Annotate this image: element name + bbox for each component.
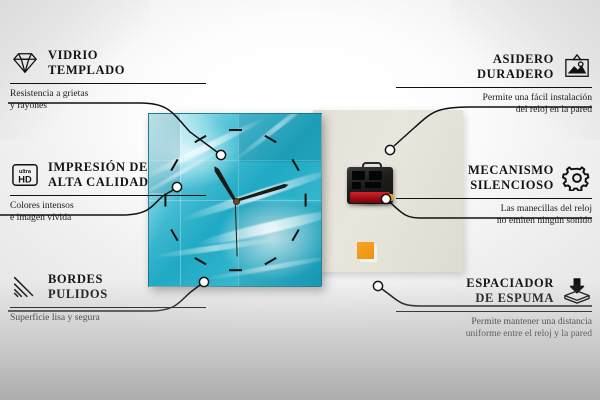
- diamond-icon: [10, 50, 40, 76]
- svg-text:HD: HD: [18, 175, 32, 185]
- feature-impresion-alta-calidad[interactable]: ultra HD IMPRESIÓN DE ALTA CALIDAD Color…: [10, 160, 206, 225]
- feature-header: MECANISMO SILENCIOSO: [396, 163, 592, 194]
- foam-spacer-icon: [562, 278, 592, 304]
- infographic-canvas: VIDRIO TEMPLADO Resistencia a grietas y …: [0, 0, 600, 400]
- feature-header: VIDRIO TEMPLADO: [10, 48, 206, 79]
- feature-espaciador-de-espuma[interactable]: ESPACIADOR DE ESPUMA Permite mantener un…: [396, 276, 592, 341]
- feature-bordes-pulidos[interactable]: BORDES PULIDOS Superficie lisa y segura: [10, 272, 206, 324]
- feature-divider: [10, 83, 206, 84]
- feature-title: BORDES PULIDOS: [48, 272, 108, 303]
- clock-tick: [194, 256, 206, 264]
- clock-center-hub: [233, 198, 240, 205]
- feature-description: Colores intensos e imagen vívida: [10, 200, 206, 225]
- clock-tick: [304, 193, 306, 206]
- clock-tick: [229, 129, 242, 131]
- mechanism-slot: [369, 171, 382, 180]
- polished-edges-icon: [10, 274, 40, 300]
- clock-tick: [194, 135, 206, 143]
- clock-tick: [170, 229, 178, 241]
- clock-tick: [229, 269, 242, 271]
- feature-title: VIDRIO TEMPLADO: [48, 48, 125, 79]
- feature-asidero-duradero[interactable]: ASIDERO DURADERO Permite una fácil insta…: [396, 52, 592, 117]
- feature-divider: [10, 195, 206, 196]
- feature-header: BORDES PULIDOS: [10, 272, 206, 303]
- feature-title: MECANISMO SILENCIOSO: [468, 163, 554, 194]
- feature-description: Permite una fácil instalación del reloj …: [396, 92, 592, 117]
- feature-header: ASIDERO DURADERO: [396, 52, 592, 83]
- feature-title: ESPACIADOR DE ESPUMA: [466, 276, 554, 307]
- mechanism-body: [347, 167, 393, 204]
- picture-frame-hanger-icon: [562, 54, 592, 80]
- mechanism-shadow: [349, 202, 395, 207]
- clock-mechanism: [347, 162, 393, 204]
- feature-header: ultra HD IMPRESIÓN DE ALTA CALIDAD: [10, 160, 206, 191]
- clock-hour-hand: [212, 165, 237, 202]
- feature-divider: [396, 311, 592, 312]
- feature-divider: [396, 87, 592, 88]
- ultra-hd-icon: ultra HD: [10, 162, 40, 188]
- mechanism-slot: [352, 182, 361, 189]
- feature-description: Superficie lisa y segura: [10, 312, 206, 325]
- feature-mecanismo-silencioso[interactable]: MECANISMO SILENCIOSO Las manecillas del …: [396, 163, 592, 228]
- feature-description: Las manecillas del reloj no emiten ningú…: [396, 203, 592, 228]
- feature-vidrio-templado[interactable]: VIDRIO TEMPLADO Resistencia a grietas y …: [10, 48, 206, 113]
- mechanism-slot: [352, 171, 365, 180]
- feature-title: ASIDERO DURADERO: [477, 52, 554, 83]
- feature-description: Permite mantener una distancia uniforme …: [396, 316, 592, 341]
- feature-divider: [396, 198, 592, 199]
- feature-header: ESPACIADOR DE ESPUMA: [396, 276, 592, 307]
- foam-spacer-sample: [357, 242, 374, 259]
- gear-icon: [562, 165, 592, 191]
- mechanism-slot: [365, 182, 381, 188]
- feature-divider: [10, 307, 206, 308]
- feature-description: Resistencia a grietas y rayones: [10, 88, 206, 113]
- feature-title: IMPRESIÓN DE ALTA CALIDAD: [48, 160, 149, 191]
